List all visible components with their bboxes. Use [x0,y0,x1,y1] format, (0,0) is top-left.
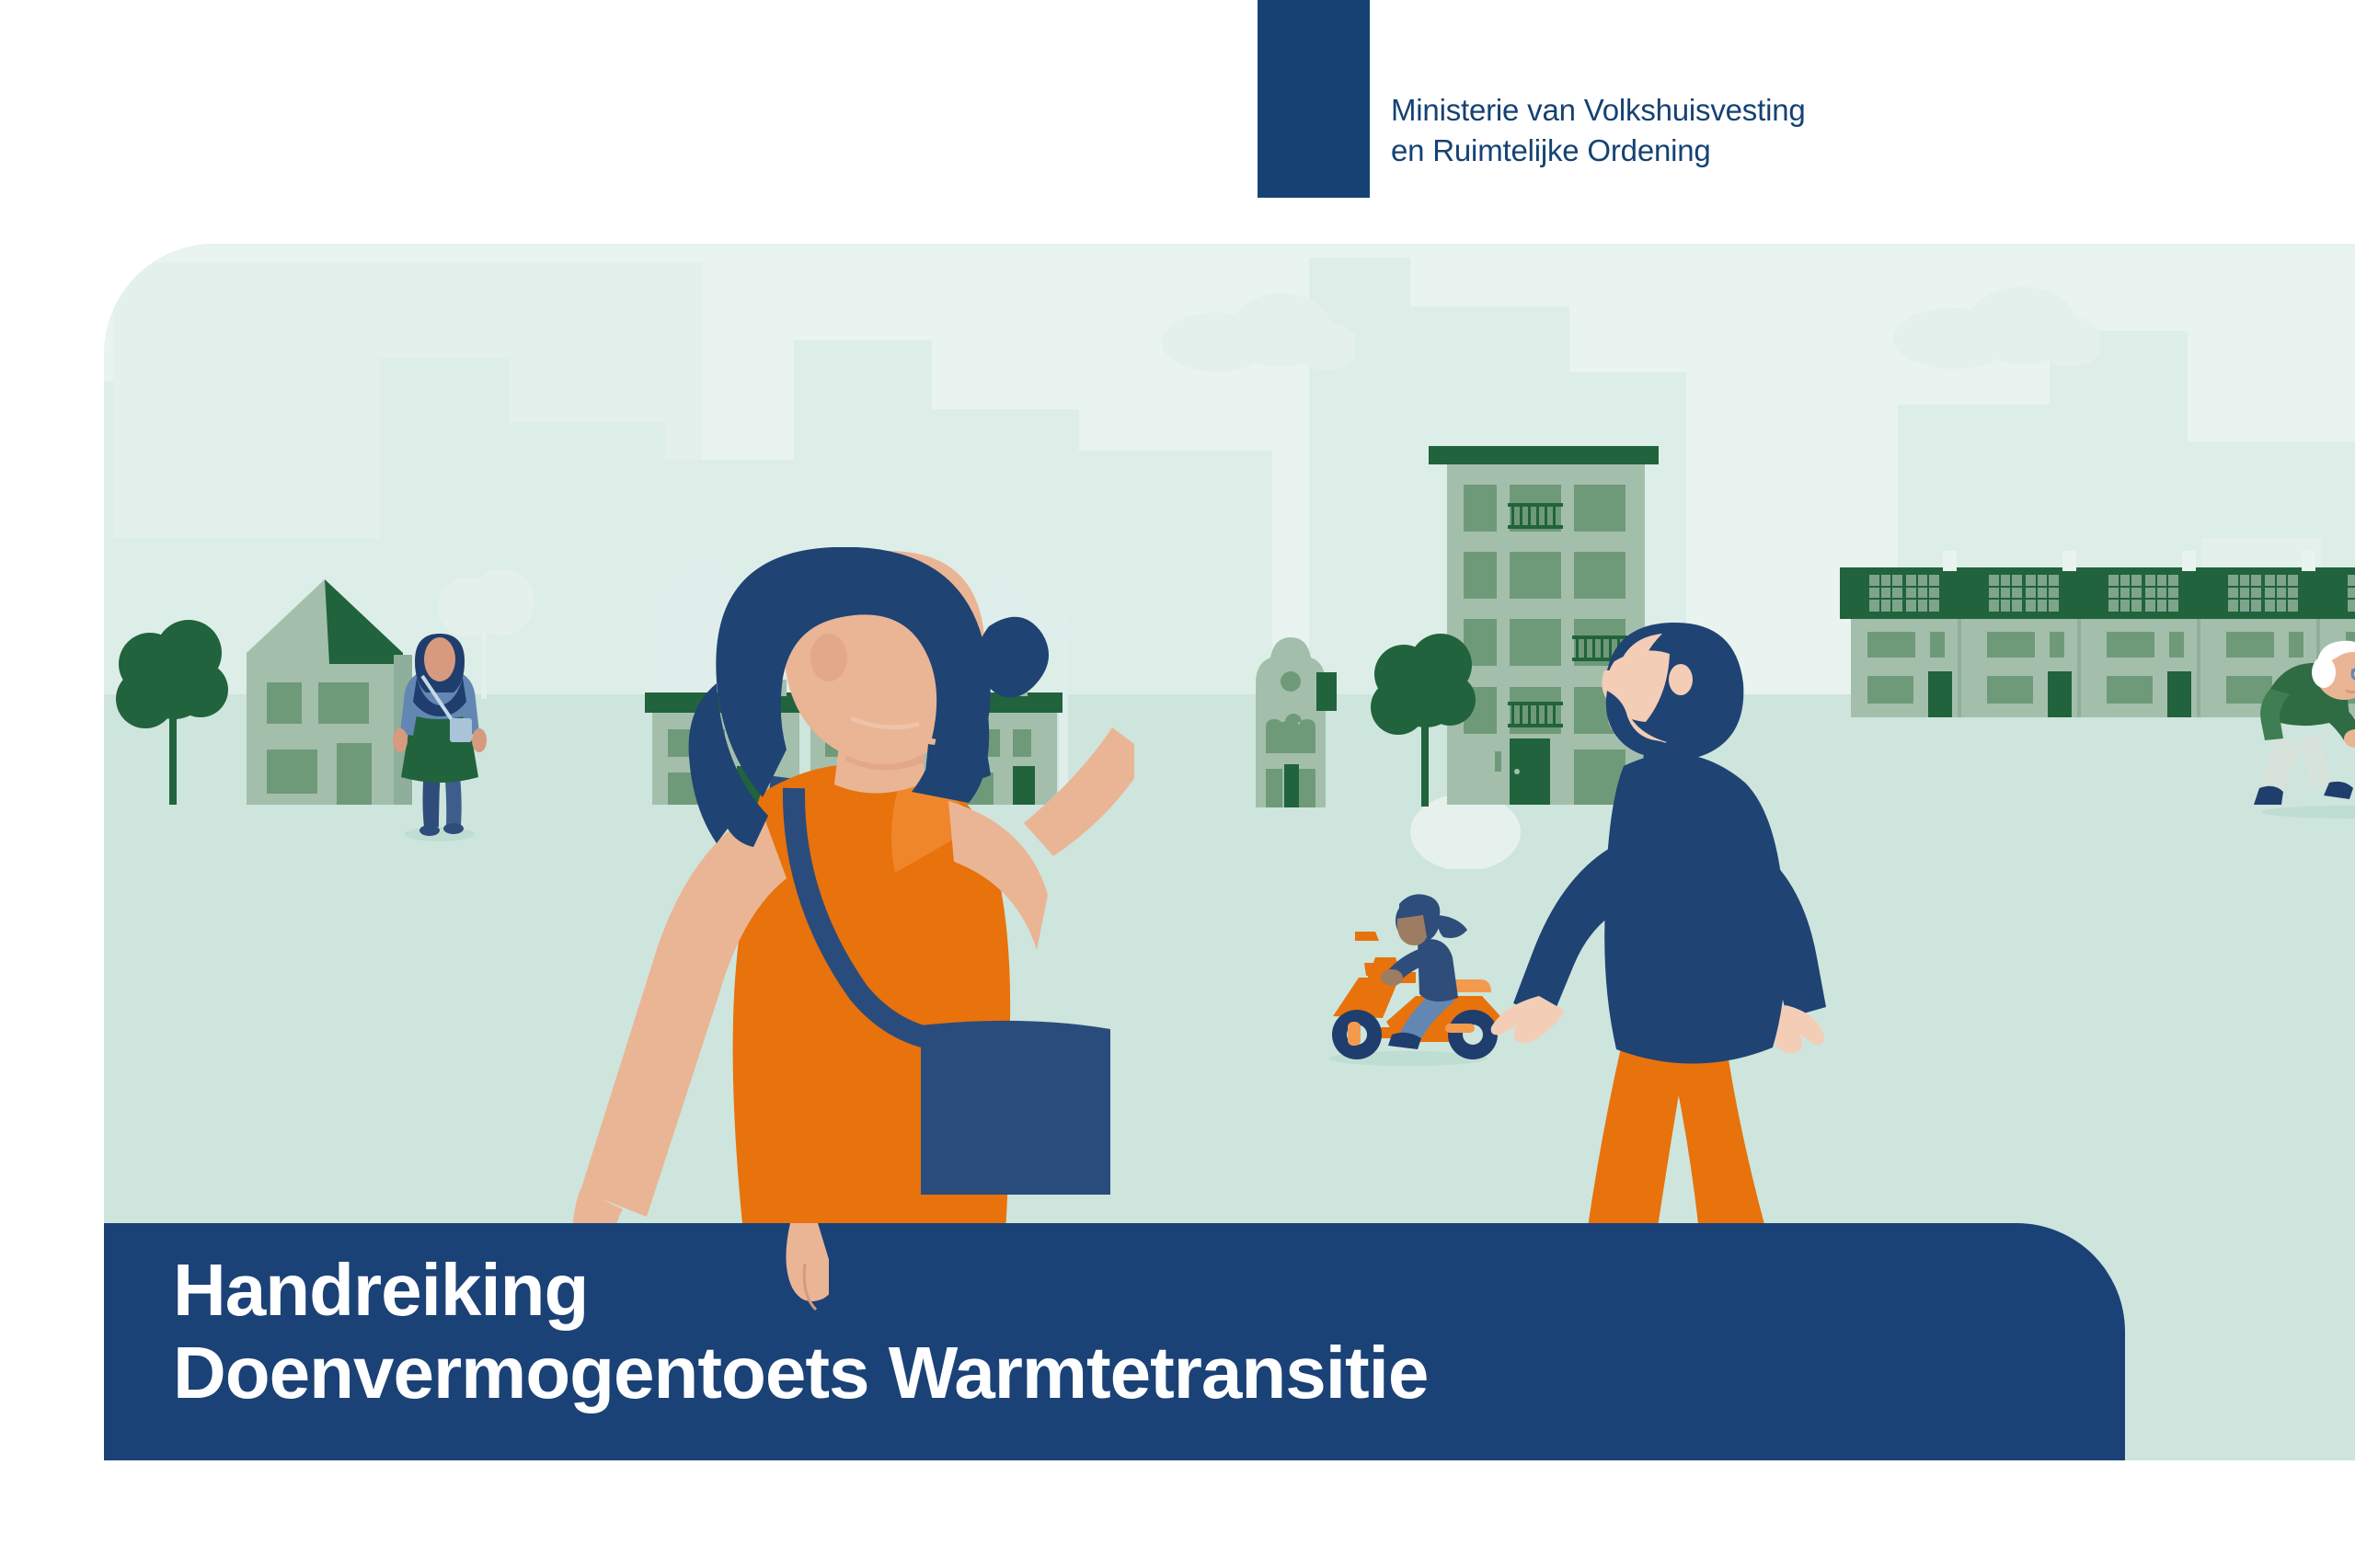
ministry-name: Ministerie van Volkshuisvesting en Ruimt… [1391,90,1869,170]
ministry-name-line-1: Ministerie van Volkshuisvesting [1391,90,1869,131]
ghost-cloud [1162,292,1355,374]
ghost-cloud [1889,285,2100,372]
ministry-logo-block [1258,0,1370,198]
woman-hand-overlap [774,1223,829,1311]
cover-title-line-2: Doenvermogentoets Warmtetransitie [173,1332,1428,1414]
masthead: Ministerie van Volkshuisvesting en Ruimt… [0,0,2355,207]
cover-title-band: Handreiking Doenvermogentoets Warmtetran… [104,1223,2125,1460]
ministry-name-line-2: en Ruimtelijke Ordening [1391,131,1869,171]
woman-with-headscarf [371,630,509,841]
canal-house [1235,619,1346,807]
street-tree [113,598,233,805]
bearded-man [1484,612,1870,1246]
scooter-rider [1300,887,1511,1071]
street-tree [1369,612,1479,807]
elderly-man-with-rollator [2243,639,2355,818]
